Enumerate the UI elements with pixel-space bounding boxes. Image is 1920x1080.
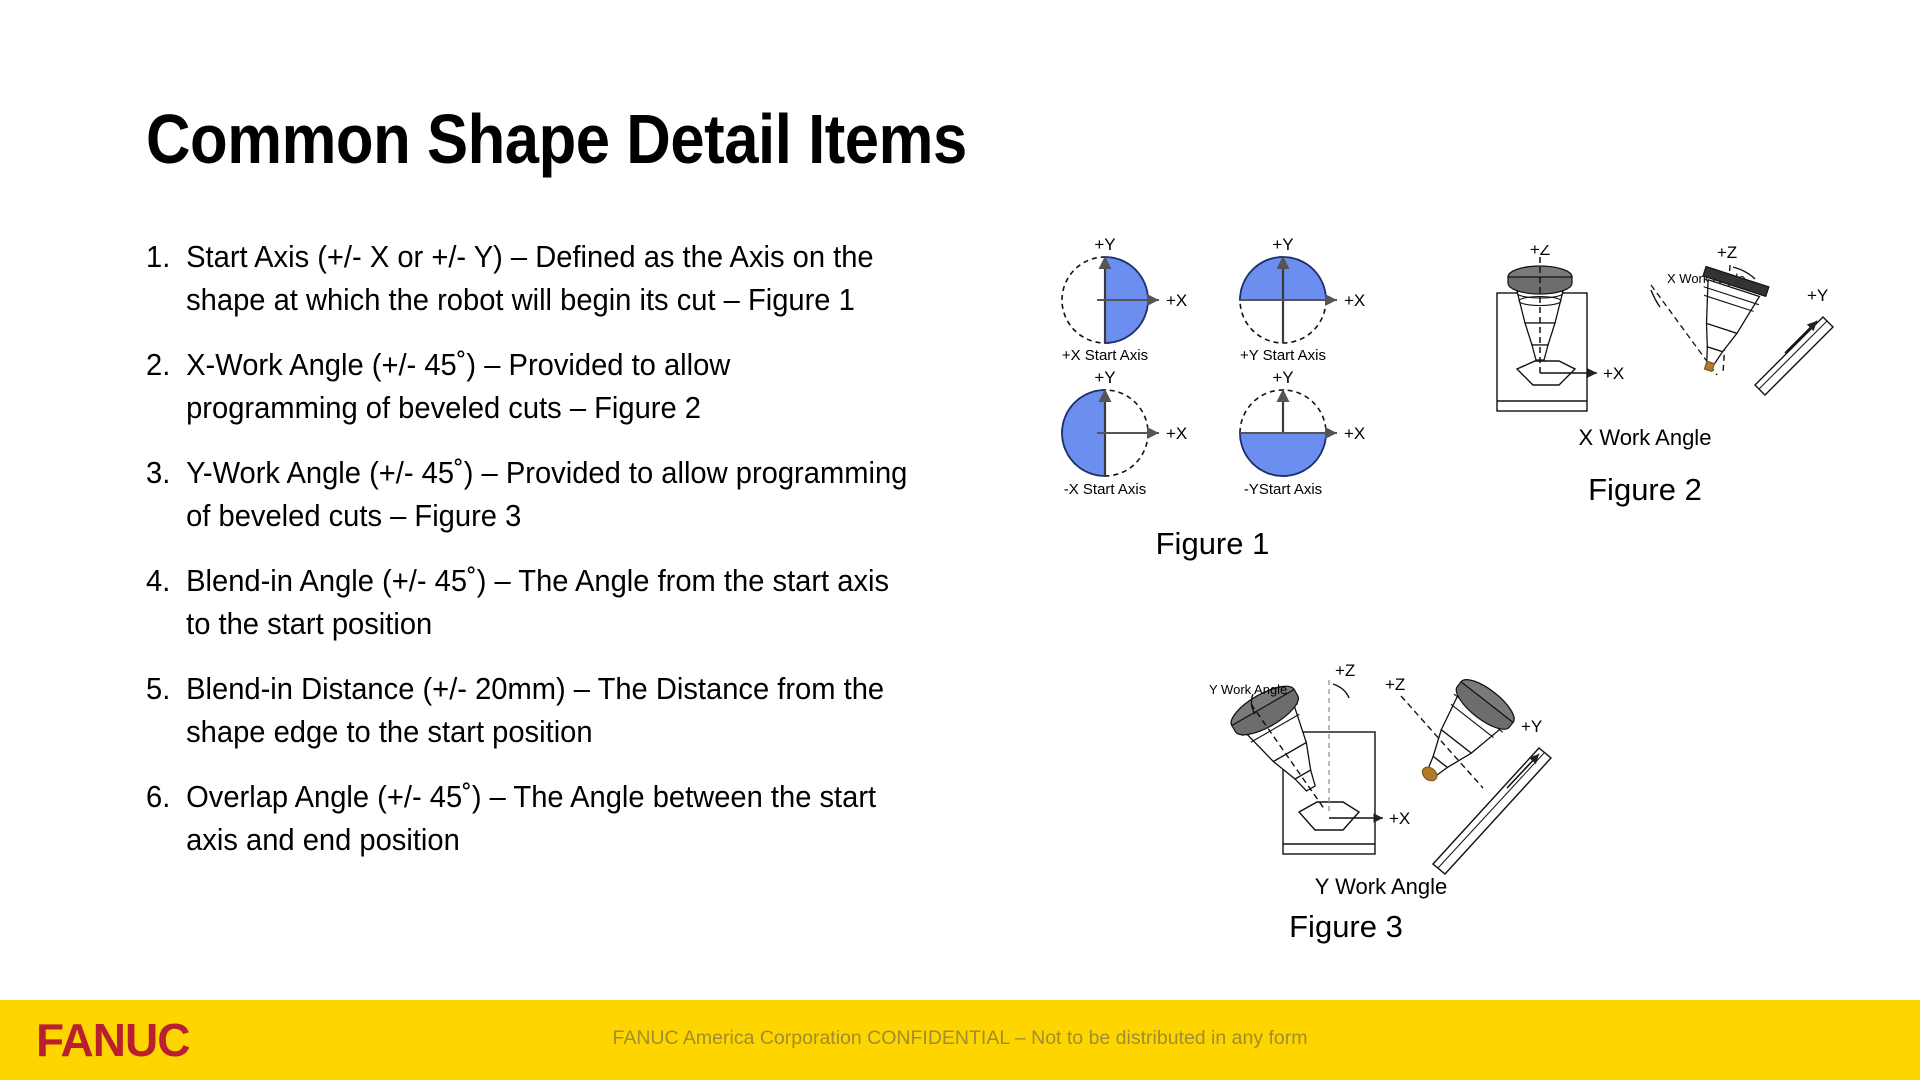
list-item-number: 3. [146, 452, 178, 495]
figure-2-x-label: +X [1603, 364, 1624, 383]
figure-1: +Y +X +X Start Axis +Y +X +Y Start Axis … [1035, 238, 1390, 562]
figure-3-tilted-torch: +Z Y Work Angle +X [1209, 661, 1410, 854]
figure-2-caption: Figure 2 [1455, 472, 1835, 508]
figure-1-caption: Figure 1 [1035, 526, 1390, 562]
svg-text:+Y: +Y [1272, 368, 1293, 387]
figure-3-z-label-right: +Z [1385, 675, 1405, 694]
figure-1-quadrant-label: -X Start Axis [1064, 481, 1147, 498]
figure-1-diagram: +Y +X +X Start Axis +Y +X +Y Start Axis … [1035, 238, 1390, 558]
list-item-number: 4. [146, 560, 178, 603]
figure-2-title: X Work Angle [1579, 425, 1712, 450]
figure-2-y-label: +Y [1807, 286, 1828, 305]
figure-1-quadrant-label: +Y Start Axis [1240, 347, 1326, 364]
figure-1-quadrant-label: -YStart Axis [1244, 481, 1322, 498]
figure-3-diagram: +Z Y Work Angle +X [1195, 660, 1575, 905]
list-item: 6. Overlap Angle (+/- 45˚) – The Angle b… [146, 776, 910, 862]
figure-3-z-label-left: +Z [1335, 661, 1355, 680]
figure-1-quadrant-minus-y: +Y +X -YStart Axis [1240, 368, 1365, 498]
figure-2-diagram: +Z +X +Z X Work Angle [1455, 245, 1835, 480]
list-item: 1. Start Axis (+/- X or +/- Y) – Defined… [146, 236, 910, 322]
svg-text:+Y: +Y [1094, 238, 1115, 254]
list-item-number: 6. [146, 776, 178, 819]
figure-2: +Z +X +Z X Work Angle [1455, 245, 1835, 508]
list-item-number: 5. [146, 668, 178, 711]
list-item-label: Overlap Angle (+/- 45˚) – The Angle betw… [186, 776, 910, 862]
figure-2-z-label-left: +Z [1530, 245, 1550, 259]
figure-3-y-label: +Y [1521, 717, 1542, 736]
confidentiality-note: FANUC America Corporation CONFIDENTIAL –… [0, 1027, 1920, 1050]
svg-text:+Y: +Y [1094, 368, 1115, 387]
figure-2-z-label-right: +Z [1717, 245, 1737, 262]
svg-text:+Y: +Y [1272, 238, 1293, 254]
figure-1-quadrant-label: +X Start Axis [1062, 347, 1148, 364]
svg-text:+X: +X [1166, 291, 1187, 310]
page-title: Common Shape Detail Items [146, 104, 1114, 174]
figure-2-tilted-torch: +Z X Work Angle +Y [1651, 245, 1833, 395]
figure-3: +Z Y Work Angle +X [1195, 660, 1575, 945]
list-item-label: Blend-in Angle (+/- 45˚) – The Angle fro… [186, 560, 910, 646]
list-item: 3. Y-Work Angle (+/- 45˚) – Provided to … [146, 452, 910, 538]
list-item: 4. Blend-in Angle (+/- 45˚) – The Angle … [146, 560, 910, 646]
figure-2-vertical-torch: +Z +X [1497, 245, 1624, 411]
figure-3-torch-on-plate: +Z +Y [1385, 672, 1551, 874]
svg-text:+X: +X [1166, 424, 1187, 443]
list-item: 2. X-Work Angle (+/- 45˚) – Provided to … [146, 344, 910, 430]
figure-3-title: Y Work Angle [1315, 874, 1447, 899]
figure-3-work-angle-label: Y Work Angle [1209, 682, 1287, 697]
footer-bar: FANUC FANUC America Corporation CONFIDEN… [0, 1000, 1920, 1080]
list-item-label: Blend-in Distance (+/- 20mm) – The Dista… [186, 668, 910, 754]
figure-1-quadrant-plus-x: +Y +X +X Start Axis [1062, 238, 1187, 364]
list-item-label: Start Axis (+/- X or +/- Y) – Defined as… [186, 236, 910, 322]
svg-text:+X: +X [1344, 424, 1365, 443]
shape-detail-list: 1. Start Axis (+/- X or +/- Y) – Defined… [146, 236, 946, 884]
list-item: 5. Blend-in Distance (+/- 20mm) – The Di… [146, 668, 910, 754]
list-item-number: 2. [146, 344, 178, 387]
figure-3-caption: Figure 3 [1117, 909, 1575, 945]
svg-text:+X: +X [1344, 291, 1365, 310]
list-item-number: 1. [146, 236, 178, 279]
figure-1-quadrant-minus-x: +Y +X -X Start Axis [1062, 368, 1187, 498]
figure-3-x-label: +X [1389, 809, 1410, 828]
figure-1-quadrant-plus-y: +Y +X +Y Start Axis [1240, 238, 1365, 364]
list-item-label: X-Work Angle (+/- 45˚) – Provided to all… [186, 344, 910, 430]
list-item-label: Y-Work Angle (+/- 45˚) – Provided to all… [186, 452, 910, 538]
